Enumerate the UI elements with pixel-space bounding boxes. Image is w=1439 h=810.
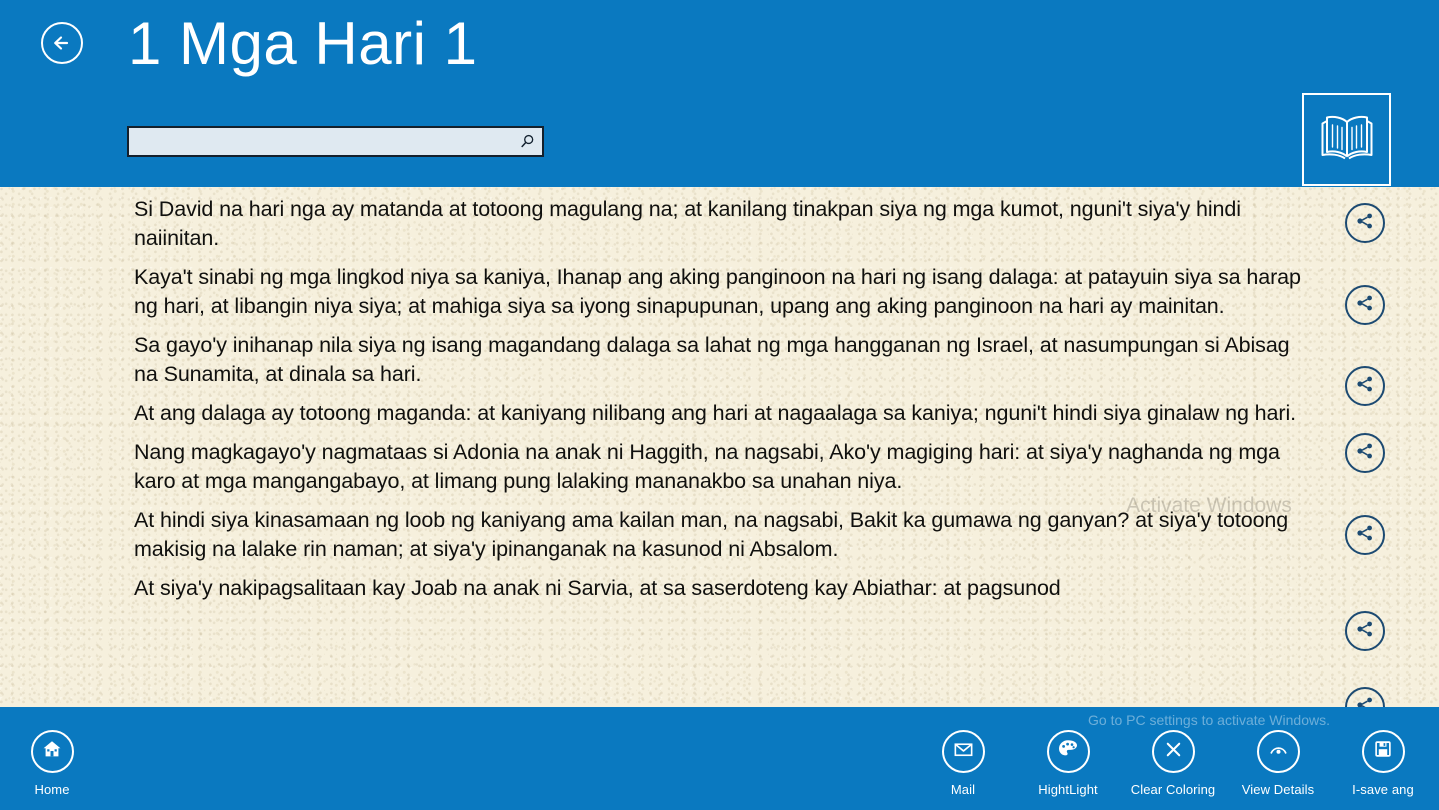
appbar-label: Home (34, 782, 69, 797)
open-book-icon (1315, 110, 1379, 169)
appbar-item-clear-coloring[interactable]: Clear Coloring (1125, 730, 1221, 797)
bottom-app-bar: Go to PC settings to activate Windows. H… (0, 707, 1439, 810)
verse-paragraph[interactable]: At ang dalaga ay totoong maganda: at kan… (134, 399, 1314, 428)
appbar-label: I-save ang (1352, 782, 1414, 797)
appbar-label: View Details (1242, 782, 1315, 797)
page-title: 1 Mga Hari 1 (128, 2, 477, 86)
share-button[interactable] (1345, 611, 1385, 651)
close-x-icon-circle (1152, 730, 1195, 773)
palette-icon-circle (1047, 730, 1090, 773)
share-button[interactable] (1345, 285, 1385, 325)
app-header: 1 Mga Hari 1 (0, 0, 1439, 187)
watermark-subtitle: Go to PC settings to activate Windows. (1039, 712, 1379, 728)
appbar-label: HightLight (1038, 782, 1098, 797)
view-details-icon (1267, 738, 1290, 766)
envelope-icon-circle (942, 730, 985, 773)
verse-paragraph[interactable]: Nang magkagayo'y nagmataas si Adonia na … (134, 438, 1314, 496)
appbar-item-view-details[interactable]: View Details (1230, 730, 1326, 797)
envelope-icon (952, 738, 975, 766)
appbar-label: Mail (951, 782, 975, 797)
share-button[interactable] (1345, 366, 1385, 406)
appbar-label: Clear Coloring (1131, 782, 1216, 797)
share-button[interactable] (1345, 203, 1385, 243)
search-box[interactable] (127, 126, 544, 157)
share-button[interactable] (1345, 515, 1385, 555)
share-icon (1354, 292, 1376, 319)
view-details-icon-circle (1257, 730, 1300, 773)
back-arrow-icon (43, 24, 81, 62)
open-book-button[interactable] (1302, 93, 1391, 186)
share-icon (1354, 210, 1376, 237)
save-disk-icon (1372, 738, 1394, 765)
search-icon[interactable] (512, 128, 542, 155)
share-icon (1354, 373, 1376, 400)
verse-list: Si David na hari nga ay matanda at totoo… (134, 195, 1314, 613)
home-icon-circle (31, 730, 74, 773)
share-button[interactable] (1345, 433, 1385, 473)
back-button[interactable] (41, 22, 83, 64)
share-icon (1354, 522, 1376, 549)
share-icon (1354, 618, 1376, 645)
verse-paragraph[interactable]: Sa gayo'y inihanap nila siya ng isang ma… (134, 331, 1314, 389)
close-x-icon (1162, 738, 1185, 766)
verse-paragraph[interactable]: Kaya't sinabi ng mga lingkod niya sa kan… (134, 263, 1314, 321)
appbar-item-home[interactable]: Home (4, 730, 100, 797)
appbar-item-mail[interactable]: Mail (915, 730, 1011, 797)
search-input[interactable] (129, 128, 512, 155)
save-disk-icon-circle (1362, 730, 1405, 773)
share-button-column (1345, 187, 1439, 707)
palette-icon (1056, 737, 1080, 766)
app-root: 1 Mga Hari 1 (0, 0, 1439, 810)
scripture-page[interactable]: Si David na hari nga ay matanda at totoo… (0, 187, 1439, 707)
home-icon (41, 738, 63, 765)
verse-paragraph[interactable]: Si David na hari nga ay matanda at totoo… (134, 195, 1314, 253)
appbar-item-highlight[interactable]: HightLight (1020, 730, 1116, 797)
verse-paragraph[interactable]: At siya'y nakipagsalitaan kay Joab na an… (134, 574, 1314, 603)
verse-paragraph[interactable]: At hindi siya kinasamaan ng loob ng kani… (134, 506, 1314, 564)
share-icon (1354, 440, 1376, 467)
appbar-item-save[interactable]: I-save ang (1335, 730, 1431, 797)
